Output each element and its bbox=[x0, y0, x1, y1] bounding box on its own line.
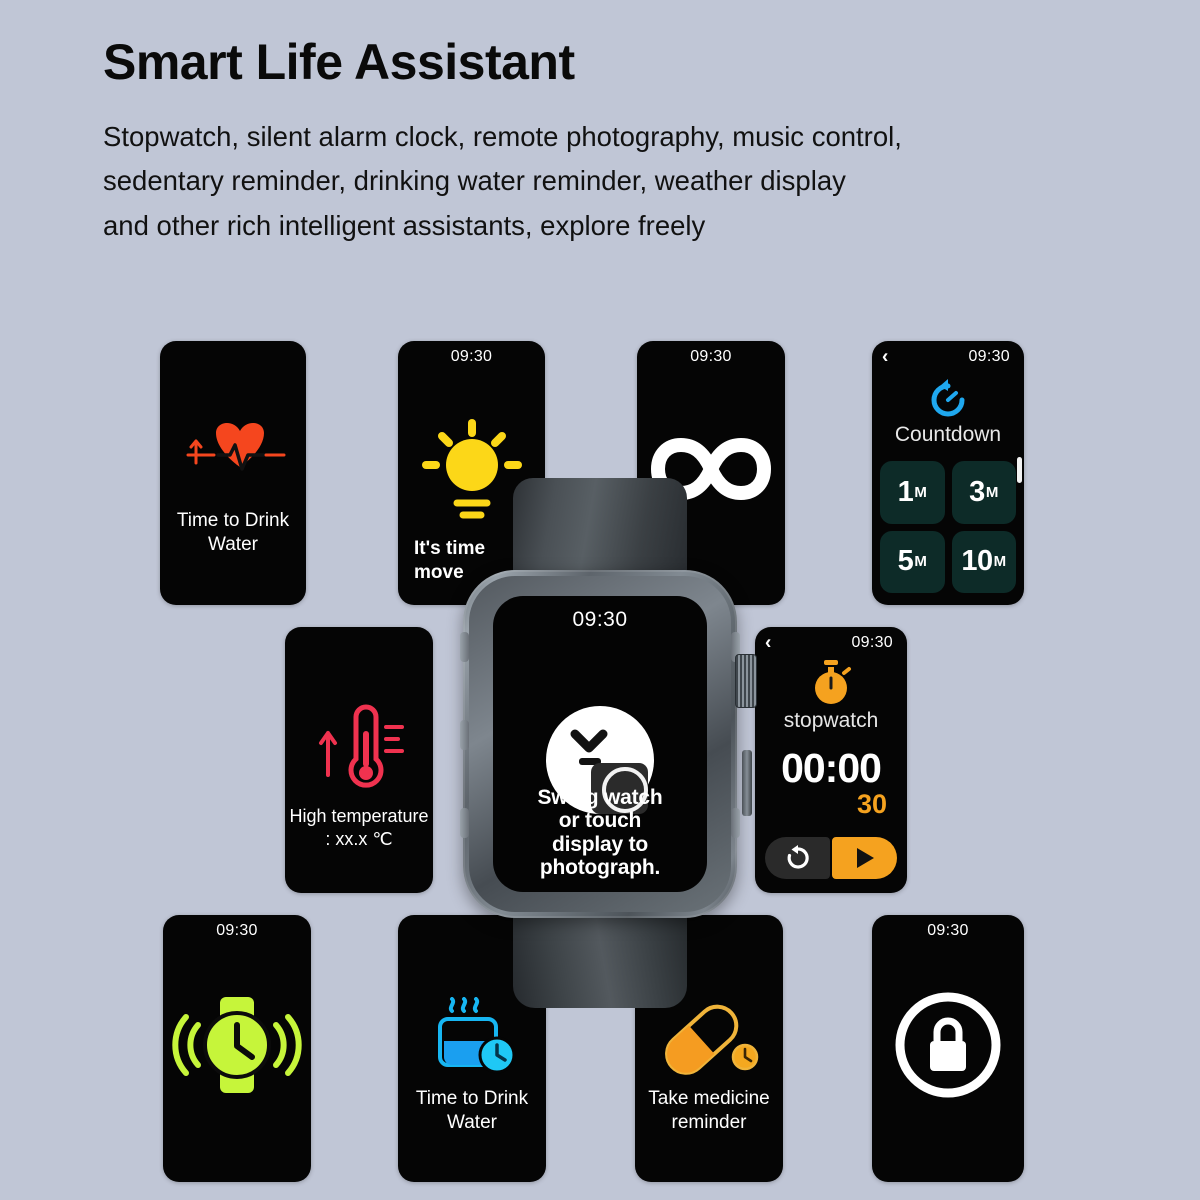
tile-value: 1 bbox=[898, 476, 914, 509]
status-bar: 09:30 bbox=[637, 348, 785, 366]
water-cup-clock-icon bbox=[398, 997, 546, 1081]
tile-unit: M bbox=[986, 484, 999, 501]
stopwatch-milliseconds: 30 bbox=[857, 789, 887, 820]
card-stopwatch[interactable]: ‹ 09:30 stopwatch 00:00 30 bbox=[755, 627, 907, 893]
tile-value: 10 bbox=[961, 545, 992, 578]
case-notch-left-top bbox=[460, 632, 469, 662]
tile-unit: M bbox=[914, 484, 927, 501]
card-caption: Time to Drink Water bbox=[398, 1087, 546, 1135]
status-bar: 09:30 bbox=[872, 922, 1024, 940]
vibrating-alarm-watch-icon bbox=[163, 989, 311, 1101]
back-chevron-icon[interactable]: ‹ bbox=[765, 634, 772, 653]
stopwatch-play-button[interactable] bbox=[832, 837, 897, 879]
stopwatch-title: stopwatch bbox=[755, 709, 907, 733]
card-screen-lock[interactable]: 09:30 bbox=[872, 915, 1024, 1182]
status-time: 09:30 bbox=[690, 348, 732, 366]
status-bar: 09:30 bbox=[163, 922, 311, 940]
card-caption: High temperature : xx.x ℃ bbox=[285, 805, 433, 850]
reset-icon bbox=[785, 845, 811, 871]
card-drink-water-heart[interactable]: Time to Drink Water bbox=[160, 341, 306, 605]
stopwatch-elapsed: 00:00 bbox=[755, 745, 907, 792]
stopwatch-reset-button[interactable] bbox=[765, 837, 830, 879]
status-time: 09:30 bbox=[216, 922, 258, 940]
card-high-temperature[interactable]: High temperature : xx.x ℃ bbox=[285, 627, 433, 893]
play-icon bbox=[853, 845, 877, 871]
countdown-tiles: 1 M 3 M 5 M 10 M bbox=[880, 461, 1016, 593]
card-silent-alarm[interactable]: 09:30 bbox=[163, 915, 311, 1182]
pill-clock-icon bbox=[635, 999, 783, 1079]
countdown-timer-icon bbox=[872, 377, 1024, 423]
case-notch-right-bottom bbox=[731, 808, 740, 838]
case-notch-left-mid bbox=[460, 720, 469, 750]
watch-side-button[interactable] bbox=[742, 750, 752, 816]
page-subtitle: Stopwatch, silent alarm clock, remote ph… bbox=[103, 115, 1113, 249]
watch-screen[interactable]: 09:30 Swing watch or touch display to ph… bbox=[493, 596, 707, 892]
watch-caption: Swing watch or touch display to photogra… bbox=[493, 786, 707, 880]
tile-unit: M bbox=[914, 553, 927, 570]
countdown-tile-3m[interactable]: 3 M bbox=[952, 461, 1017, 524]
header: Smart Life Assistant Stopwatch, silent a… bbox=[103, 36, 1113, 248]
status-bar: ‹ 09:30 bbox=[872, 348, 1024, 366]
stopwatch-controls bbox=[765, 837, 897, 879]
status-time: 09:30 bbox=[451, 348, 493, 366]
watch-status-time: 09:30 bbox=[493, 608, 707, 632]
card-countdown[interactable]: ‹ 09:30 Countdown 1 M 3 M 5 M bbox=[872, 341, 1024, 605]
watch-case: 09:30 Swing watch or touch display to ph… bbox=[463, 570, 737, 918]
page-title: Smart Life Assistant bbox=[103, 36, 1113, 89]
status-time: 09:30 bbox=[968, 348, 1010, 366]
countdown-tile-1m[interactable]: 1 M bbox=[880, 461, 945, 524]
poster-canvas: Smart Life Assistant Stopwatch, silent a… bbox=[0, 0, 1200, 1200]
tile-unit: M bbox=[994, 553, 1007, 570]
heartbeat-icon bbox=[160, 419, 306, 505]
tile-value: 5 bbox=[898, 545, 914, 578]
smartwatch: 09:30 Swing watch or touch display to ph… bbox=[455, 478, 745, 1008]
case-notch-left-bottom bbox=[460, 808, 469, 838]
status-bar: 09:30 bbox=[398, 348, 545, 366]
status-time: 09:30 bbox=[927, 922, 969, 940]
scrollbar[interactable] bbox=[1017, 457, 1022, 483]
card-caption: Time to Drink Water bbox=[160, 509, 306, 557]
card-caption: Take medicine reminder bbox=[635, 1087, 783, 1135]
stopwatch-icon bbox=[755, 659, 907, 709]
lock-circle-icon bbox=[872, 989, 1024, 1101]
watch-crown-button[interactable] bbox=[735, 654, 757, 708]
status-time: 09:30 bbox=[851, 634, 893, 652]
countdown-tile-10m[interactable]: 10 M bbox=[952, 531, 1017, 594]
tile-value: 3 bbox=[969, 476, 985, 509]
countdown-title: Countdown bbox=[872, 423, 1024, 447]
status-bar: ‹ 09:30 bbox=[755, 634, 907, 652]
countdown-tile-5m[interactable]: 5 M bbox=[880, 531, 945, 594]
back-chevron-icon[interactable]: ‹ bbox=[882, 348, 889, 367]
thermometer-icon bbox=[285, 703, 433, 799]
